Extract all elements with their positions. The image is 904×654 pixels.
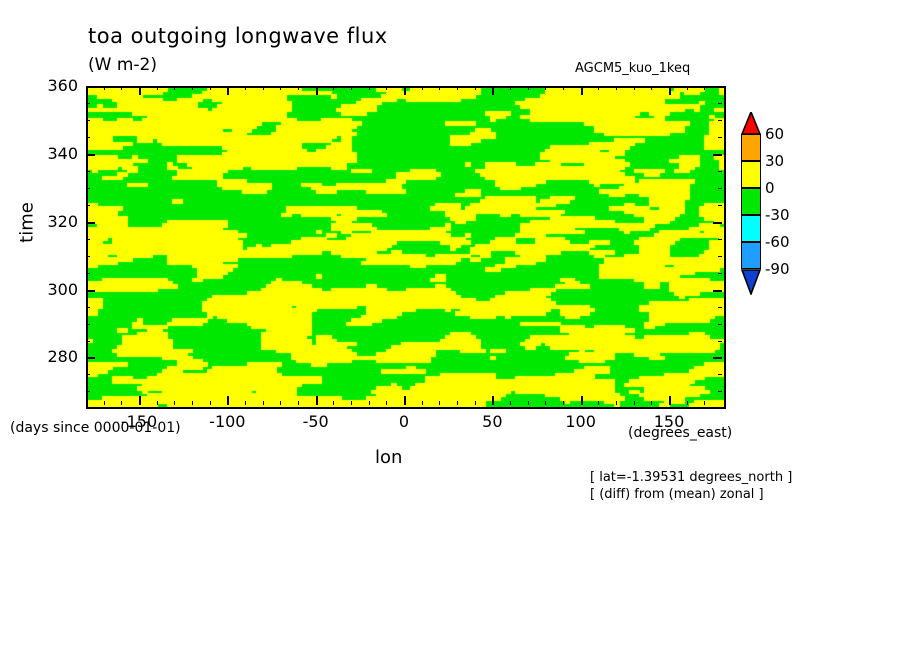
tick-mark [86,374,90,375]
tick-mark [457,401,458,405]
tick-mark [713,357,722,359]
tick-mark [651,86,652,90]
y-axis-title: time [17,193,38,253]
tick-mark [227,396,229,405]
tick-mark [298,401,299,405]
tick-mark [298,86,299,90]
tick-mark [475,86,476,90]
x-tick-label: 0 [374,412,434,431]
tick-mark [718,171,722,172]
tick-mark [174,401,175,405]
tick-mark [404,396,406,405]
tick-mark [713,222,722,224]
tick-mark [263,401,264,405]
x-tick-label: -100 [197,412,257,431]
tick-mark [687,86,688,90]
colorbar-band [741,242,761,269]
tick-mark [510,401,511,405]
tick-mark [210,401,211,405]
hovmoller-field [88,88,724,407]
colorbar-band [741,161,761,188]
tick-mark [86,324,90,325]
colorbar-tick-label: 0 [765,179,775,197]
tick-mark [669,396,671,405]
tick-mark [192,86,193,90]
tick-mark [492,86,494,95]
tick-mark [528,86,529,90]
y-axis-units-label: (days since 0000-01-01) [10,420,181,436]
tick-mark [704,401,705,405]
tick-mark [598,86,599,90]
tick-mark [616,86,617,90]
colorbar-band [741,134,761,161]
tick-mark [333,86,334,90]
tick-mark [718,137,722,138]
tick-mark [86,307,90,308]
tick-mark [333,401,334,405]
colorbar-band [741,188,761,215]
tick-mark [369,401,370,405]
x-tick-label: 100 [551,412,611,431]
tick-mark [718,307,722,308]
tick-mark [718,374,722,375]
units-label: (W m-2) [88,55,157,75]
tick-mark [139,396,141,405]
tick-mark [86,188,90,189]
tick-mark [86,256,90,257]
tick-mark [422,86,423,90]
tick-mark [718,188,722,189]
tick-mark [245,401,246,405]
tick-mark [718,205,722,206]
tick-mark [386,86,387,90]
tick-mark [351,86,352,90]
tick-mark [634,401,635,405]
tick-mark [669,86,671,95]
x-tick-label: 50 [462,412,522,431]
tick-mark [157,401,158,405]
tick-mark [280,86,281,90]
tick-mark [121,401,122,405]
tick-mark [439,86,440,90]
x-axis-title: lon [375,447,402,468]
tick-mark [718,341,722,342]
colorbar-tick-label: -90 [765,260,790,278]
tick-mark [687,401,688,405]
tick-mark [718,103,722,104]
colorbar [741,112,761,292]
tick-mark [316,396,318,405]
tick-mark [713,290,722,292]
tick-mark [545,86,546,90]
tick-mark [563,86,564,90]
tick-mark [210,86,211,90]
dataset-label: AGCM5_kuo_1keq [575,61,690,76]
tick-mark [157,86,158,90]
tick-mark [616,401,617,405]
tick-mark [475,401,476,405]
tick-mark [86,103,90,104]
tick-mark [227,86,229,95]
tick-mark [104,401,105,405]
tick-mark [563,401,564,405]
tick-mark [351,401,352,405]
tick-mark [139,86,141,95]
tick-mark [404,86,406,95]
tick-mark [86,239,90,240]
tick-mark [718,324,722,325]
tick-mark [86,341,90,342]
colorbar-tick-label: 60 [765,125,784,143]
tick-mark [704,86,705,90]
x-tick-label: -50 [286,412,346,431]
tick-mark [86,290,95,292]
y-tick-label: 360 [28,76,78,95]
tick-mark [718,239,722,240]
tick-mark [634,86,635,90]
tick-mark [369,86,370,90]
tick-mark [528,401,529,405]
colorbar-over-arrow [741,112,761,134]
tick-mark [86,357,95,359]
tick-mark [651,401,652,405]
tick-mark [718,391,722,392]
tick-mark [492,396,494,405]
y-tick-label: 280 [28,347,78,366]
tick-mark [86,391,90,392]
tick-mark [457,86,458,90]
tick-mark [713,86,722,88]
tick-mark [718,256,722,257]
footnote-latitude: [ lat=-1.39531 degrees_north ] [590,470,792,485]
tick-mark [280,401,281,405]
tick-mark [86,171,90,172]
tick-mark [174,86,175,90]
heatmap-plot-area [86,86,726,409]
tick-mark [86,222,95,224]
colorbar-under-arrow [741,269,761,291]
tick-mark [121,86,122,90]
tick-mark [439,401,440,405]
tick-mark [86,86,95,88]
tick-mark [510,86,511,90]
tick-mark [386,401,387,405]
tick-mark [581,86,583,95]
tick-mark [86,137,90,138]
y-tick-label: 300 [28,280,78,299]
tick-mark [86,205,90,206]
footnote-diff: [ (diff) from (mean) zonal ] [590,487,764,502]
tick-mark [718,273,722,274]
colorbar-tick-label: -60 [765,233,790,251]
tick-mark [581,396,583,405]
tick-mark [263,86,264,90]
tick-mark [422,401,423,405]
tick-mark [104,86,105,90]
tick-mark [86,273,90,274]
tick-mark [718,120,722,121]
tick-mark [192,401,193,405]
y-tick-label: 340 [28,144,78,163]
colorbar-tick-label: 30 [765,152,784,170]
x-axis-units-label: (degrees_east) [628,425,732,441]
tick-mark [86,154,95,156]
page-title: toa outgoing longwave flux [88,24,388,48]
colorbar-tick-label: -30 [765,206,790,224]
tick-mark [245,86,246,90]
tick-mark [316,86,318,95]
tick-mark [598,401,599,405]
colorbar-band [741,215,761,242]
tick-mark [86,120,90,121]
tick-mark [545,401,546,405]
tick-mark [713,154,722,156]
